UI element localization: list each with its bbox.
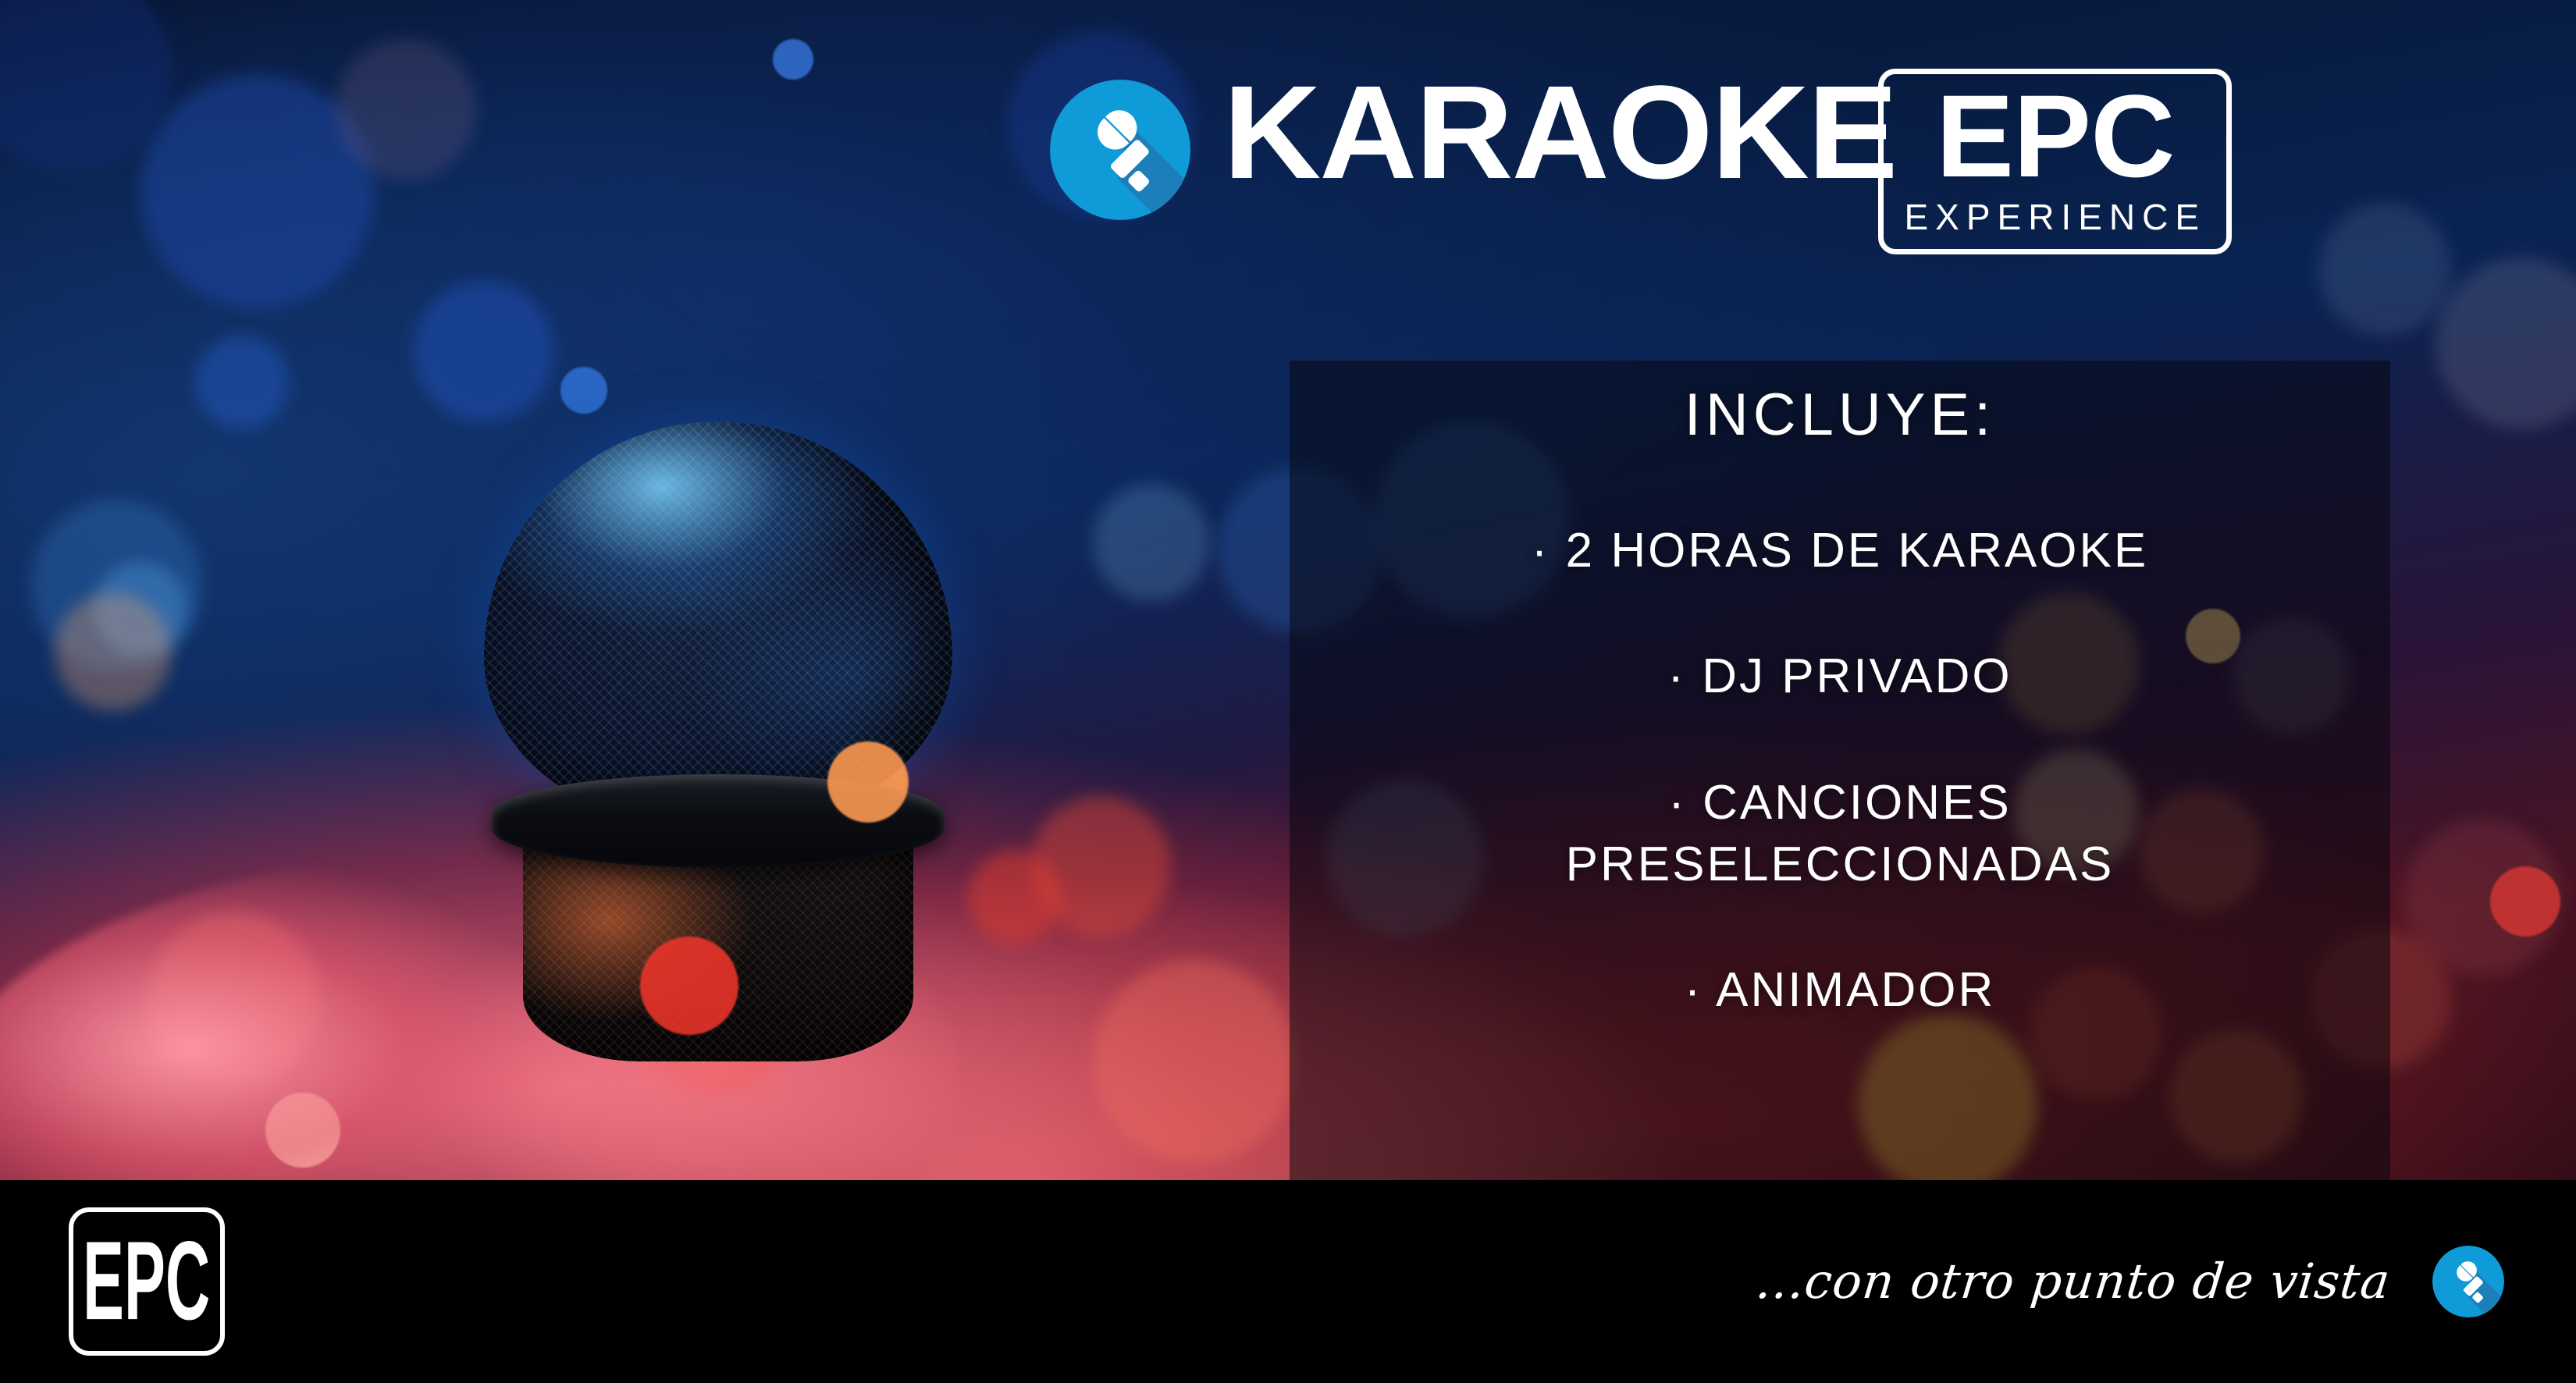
tagline-text: ...con otro punto de vista: [1754, 1257, 2393, 1306]
list-item: · 2 HORAS DE KARAOKE: [1532, 520, 2148, 581]
bokeh-circle: [2318, 203, 2451, 336]
bokeh-circle: [1093, 960, 1296, 1163]
footer-tagline-group: ...con otro punto de vista: [1756, 1246, 2504, 1317]
bokeh-circle: [195, 336, 289, 429]
bokeh-circle: [2490, 866, 2560, 937]
bokeh-circle: [0, 0, 172, 172]
bokeh-circle: [773, 39, 813, 80]
wordmark: KARAOKE EPC EXPERIENCE: [1223, 69, 2232, 254]
bokeh-circle: [414, 281, 554, 421]
bokeh-circle: [2435, 258, 2576, 429]
includes-list: · 2 HORAS DE KARAOKE · DJ PRIVADO · CANC…: [1290, 520, 2390, 1022]
logo-karaoke-text: KARAOKE: [1223, 72, 1896, 194]
bokeh-circle: [1093, 484, 1210, 601]
bokeh-circle: [827, 741, 909, 823]
logo-experience-text: EXPERIENCE: [1904, 199, 2206, 235]
brand-logo: KARAOKE EPC EXPERIENCE: [1050, 69, 2232, 254]
microphone-icon: [2432, 1246, 2504, 1317]
footer-bar: EPC ...con otro punto de vista: [0, 1180, 2576, 1383]
logo-epc-text: EPC: [1936, 87, 2174, 187]
promo-banner: KARAOKE EPC EXPERIENCE INCLUYE: · 2 HORA…: [0, 0, 2576, 1383]
bokeh-circle: [560, 367, 607, 414]
panel-heading: INCLUYE:: [1685, 386, 1996, 445]
bokeh-circle: [640, 937, 738, 1035]
bokeh-circle: [55, 593, 172, 710]
bokeh-circle: [336, 39, 476, 180]
list-item: · CANCIONES PRESELECCIONADAS: [1566, 772, 2115, 896]
includes-panel: INCLUYE: · 2 HORAS DE KARAOKE · DJ PRIVA…: [1290, 361, 2390, 1180]
microphone-icon: [1050, 80, 1190, 220]
list-item: · DJ PRIVADO: [1667, 645, 2012, 707]
list-item: · ANIMADOR: [1685, 959, 1996, 1021]
epc-logo-mark: EPC: [69, 1207, 225, 1356]
epc-experience-box: EPC EXPERIENCE: [1878, 69, 2232, 254]
microphone-photo: [437, 421, 984, 1015]
epc-logo-text: EPC: [83, 1225, 210, 1337]
